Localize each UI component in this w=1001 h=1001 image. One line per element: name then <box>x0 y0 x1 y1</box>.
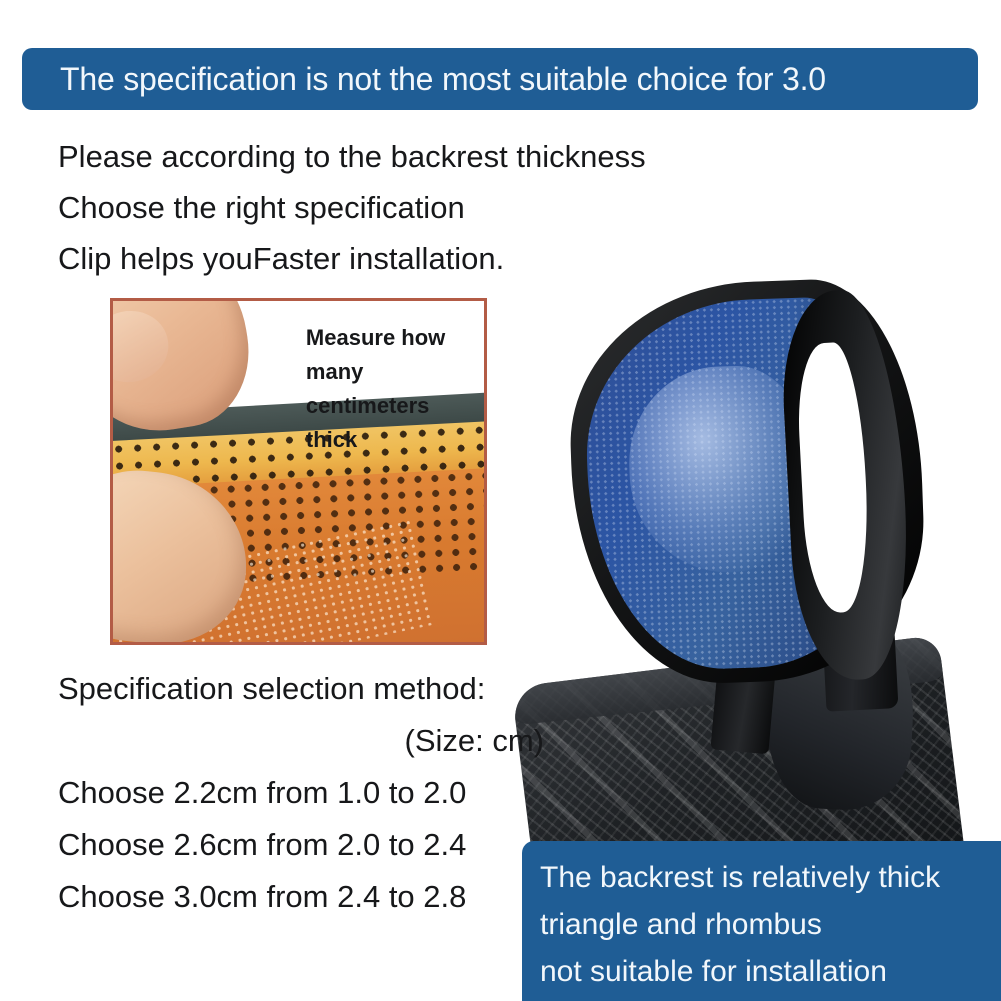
intro-line-1: Please according to the backrest thickne… <box>58 131 798 182</box>
bottom-callout: The backrest is relatively thick triangl… <box>522 841 1001 1001</box>
specification-block: Specification selection method: (Size: c… <box>58 663 544 923</box>
spec-row-2: Choose 2.6cm from 2.0 to 2.4 <box>58 819 544 871</box>
spec-size-note: (Size: cm) <box>58 715 544 767</box>
callout-line-3: not suitable for installation <box>540 948 1001 995</box>
photo-caption-line-2: centimeters thick <box>306 389 477 457</box>
photo-caption: Measure how many centimeters thick <box>306 321 477 457</box>
intro-text-block: Please according to the backrest thickne… <box>58 131 798 284</box>
chair-photo <box>520 270 1001 910</box>
measure-photo-image: Measure how many centimeters thick <box>113 301 484 642</box>
spec-row-3: Choose 3.0cm from 2.4 to 2.8 <box>58 871 544 923</box>
callout-line-1: The backrest is relatively thick <box>540 854 1001 901</box>
infographic-page: The specification is not the most suitab… <box>0 0 1001 1001</box>
intro-line-2: Choose the right specification <box>58 182 798 233</box>
spec-title: Specification selection method: <box>58 663 544 715</box>
spec-row-1: Choose 2.2cm from 1.0 to 2.0 <box>58 767 544 819</box>
photo-caption-line-1: Measure how many <box>306 321 477 389</box>
photo-fingernail <box>113 306 174 388</box>
callout-line-2: triangle and rhombus <box>540 901 1001 948</box>
top-banner-text: The specification is not the most suitab… <box>60 63 826 95</box>
headrest-arm-cutout <box>795 341 873 614</box>
top-banner: The specification is not the most suitab… <box>22 48 978 110</box>
measure-photo: Measure how many centimeters thick <box>110 298 487 645</box>
